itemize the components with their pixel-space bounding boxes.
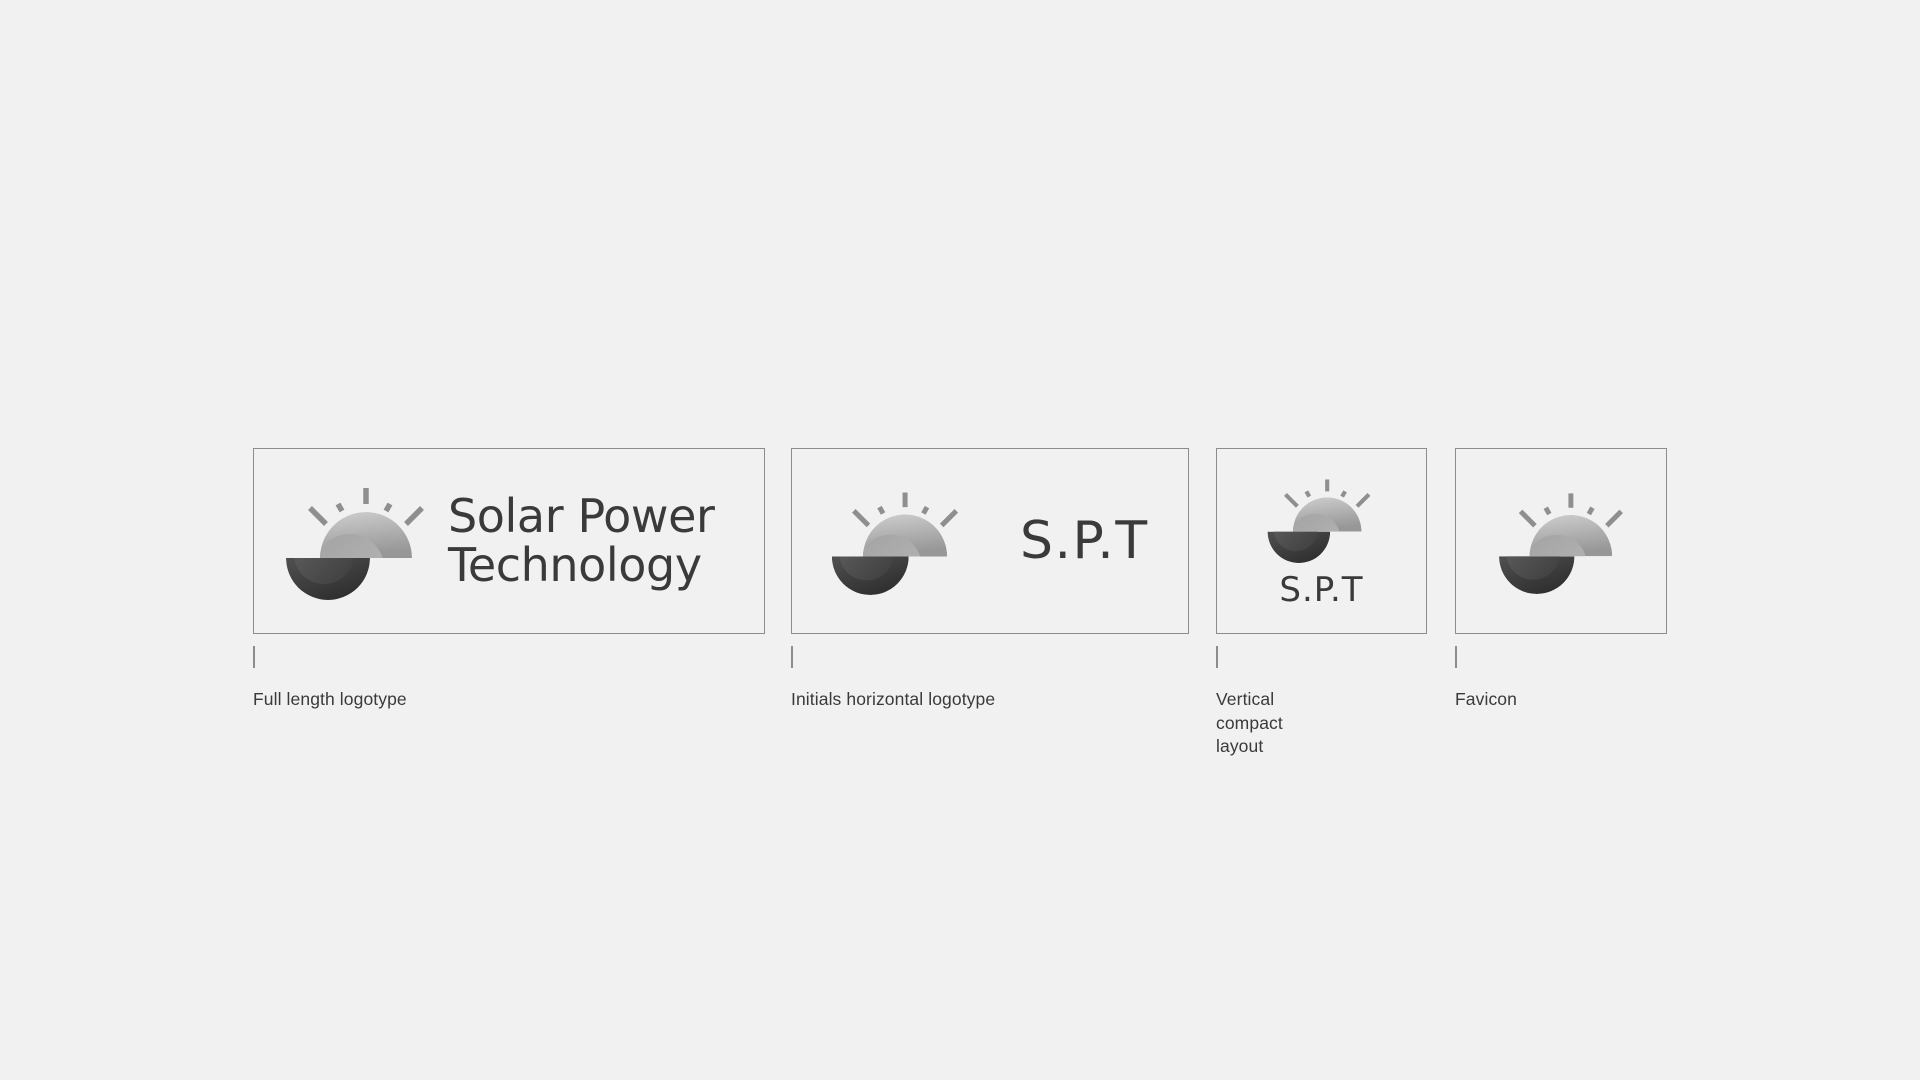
- logo-preview-panel-initials-horizontal[interactable]: S.P.T: [791, 448, 1189, 634]
- wordmark-initials-horizontal: S.P.T: [1020, 515, 1149, 567]
- logo-preview-panel-favicon[interactable]: [1455, 448, 1667, 634]
- logo-variants-board-page: { "page": { "background_color": "#f1f1f1…: [0, 0, 1920, 1080]
- logo-variant-initials-horizontal[interactable]: S.P.T Initials horizontal logotype: [791, 448, 1189, 634]
- caption-tick-mark-initials-horizontal: [791, 646, 793, 668]
- caption-tick-mark-vertical-compact: [1216, 646, 1218, 668]
- logo-preview-panel-vertical-compact[interactable]: S.P.T: [1216, 448, 1427, 634]
- solar-sun-logo-mark: [830, 487, 960, 595]
- caption-vertical-compact: Vertical compact layout: [1216, 688, 1283, 759]
- caption-tick-mark-favicon: [1455, 646, 1457, 668]
- solar-sun-logo-mark: [1266, 475, 1372, 563]
- wordmark-vertical-compact: S.P.T: [1279, 573, 1363, 607]
- logo-variant-vertical-compact[interactable]: S.P.T Vertical compact layout: [1216, 448, 1427, 634]
- logo-variants-board: Solar Power Technology Full length logot…: [253, 448, 1667, 798]
- wordmark-full-length: Solar Power Technology: [448, 492, 715, 590]
- caption-tick-mark-full-length: [253, 646, 255, 668]
- logo-preview-panel-full-length[interactable]: Solar Power Technology: [253, 448, 765, 634]
- caption-initials-horizontal: Initials horizontal logotype: [791, 688, 995, 712]
- logo-variant-favicon[interactable]: Favicon: [1455, 448, 1667, 634]
- caption-full-length: Full length logotype: [253, 688, 407, 712]
- caption-favicon: Favicon: [1455, 688, 1517, 712]
- logo-variant-full-length[interactable]: Solar Power Technology Full length logot…: [253, 448, 765, 634]
- solar-sun-logo-mark: [284, 482, 426, 600]
- solar-sun-logo-mark: [1497, 488, 1625, 594]
